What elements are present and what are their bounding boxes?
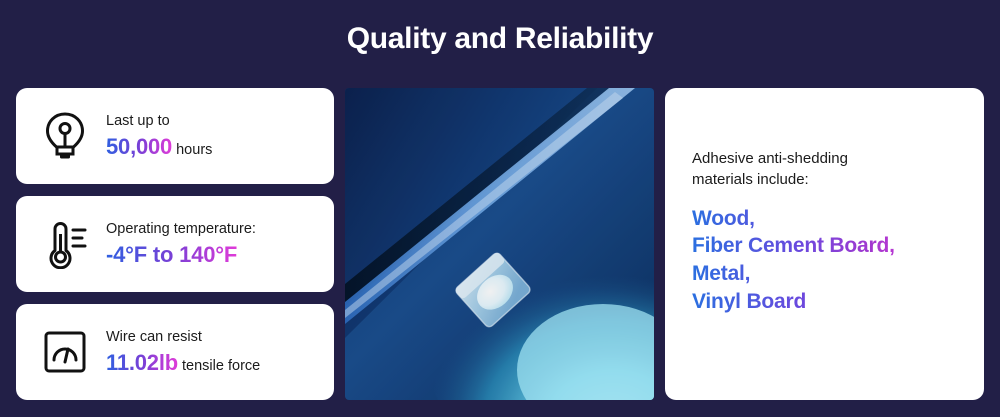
spec-value-row-lifetime: 50,000 hours [106,133,212,161]
materials-intro: Adhesive anti-shedding materials include… [692,148,912,191]
product-photo-image [345,88,654,400]
spec-text-temperature: Operating temperature: -4°F to 140°F [106,220,256,269]
spec-card-tensile-force: Wire can resist 11.02lb tensile force [16,304,334,400]
material-item-vinyl-board: Vinyl Board [692,288,948,316]
material-item-fiber-cement-board: Fiber Cement Board, [692,232,948,260]
spec-value-row-temperature: -4°F to 140°F [106,241,256,269]
spec-value-suffix-tensile-force: tensile force [178,358,260,374]
product-photo [345,88,654,400]
gauge-icon [38,323,92,381]
light-bulb-icon [38,107,92,165]
spec-label-lifetime: Last up to [106,112,212,130]
materials-card: Adhesive anti-shedding materials include… [665,88,984,400]
spec-card-temperature: Operating temperature: -4°F to 140°F [16,196,334,292]
material-item-metal: Metal, [692,260,948,288]
thermometer-icon [38,215,92,273]
spec-value-suffix-lifetime: hours [172,142,212,158]
spec-label-tensile-force: Wire can resist [106,328,260,346]
spec-text-tensile-force: Wire can resist 11.02lb tensile force [106,328,260,377]
spec-value-tensile-force: 11.02lb [106,350,178,375]
material-item-wood: Wood, [692,205,948,233]
spec-value-lifetime: 50,000 [106,134,172,159]
spec-card-list: Last up to 50,000 hours Operating temper… [16,88,334,400]
spec-value-temperature: -4°F to 140°F [106,242,237,267]
spec-card-lifetime: Last up to 50,000 hours [16,88,334,184]
spec-value-row-tensile-force: 11.02lb tensile force [106,349,260,377]
spec-label-temperature: Operating temperature: [106,220,256,238]
page-title: Quality and Reliability [0,22,1000,56]
materials-list: Wood, Fiber Cement Board, Metal, Vinyl B… [692,205,984,316]
spec-text-lifetime: Last up to 50,000 hours [106,112,212,161]
